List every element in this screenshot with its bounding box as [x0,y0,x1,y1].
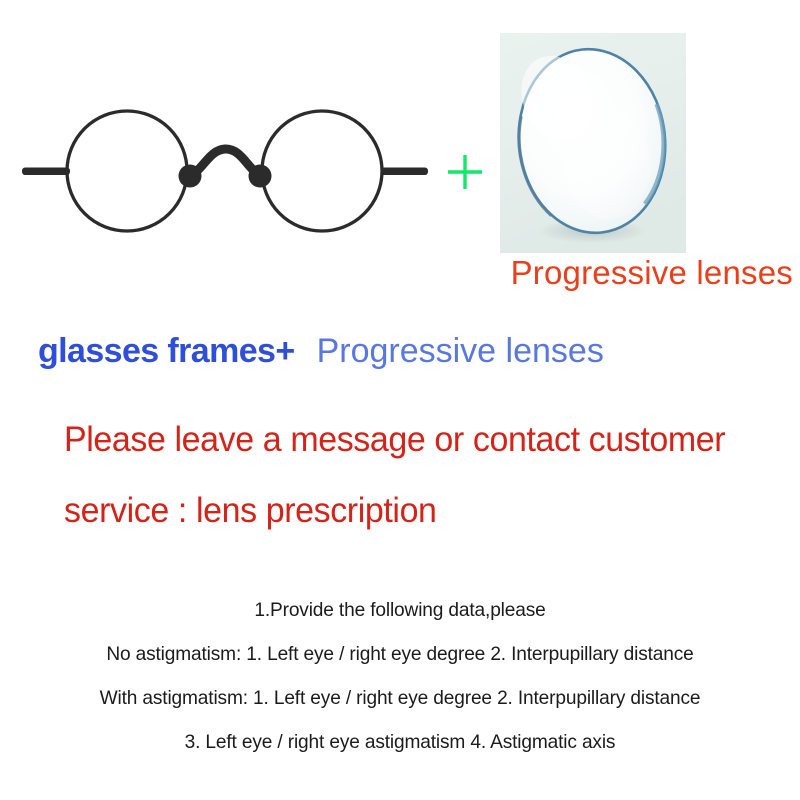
glasses-frames-label: glasses frames+ [38,332,295,370]
prescription-detail-line-1: 1.Provide the following data,please [8,588,792,632]
contact-message-block: Please leave a message or contact custom… [64,404,794,546]
prescription-detail-line-3: With astigmatism: 1. Left eye / right ey… [8,676,792,720]
contact-message-line-1: Please leave a message or contact custom… [64,404,772,475]
contact-message-line-2: service : lens prescription [64,475,772,546]
progressive-lens-photo [500,33,686,253]
round-eyeglasses-frame-icon [10,95,440,245]
progressive-lenses-label: Progressive lenses [317,332,604,370]
frames-plus-lenses-headline: glasses frames+Progressive lenses [38,332,778,380]
product-graphic-page: Progressive lenses glasses frames+Progre… [0,0,800,800]
plus-icon [443,150,487,194]
prescription-detail-line-2: No astigmatism: 1. Left eye / right eye … [8,632,792,676]
prescription-detail-line-4: 3. Left eye / right eye astigmatism 4. A… [8,720,792,764]
prescription-details-block: 1.Provide the following data,please No a… [0,588,800,764]
progressive-lenses-caption: Progressive lenses [0,253,793,293]
hero-section: Progressive lenses [0,0,800,300]
